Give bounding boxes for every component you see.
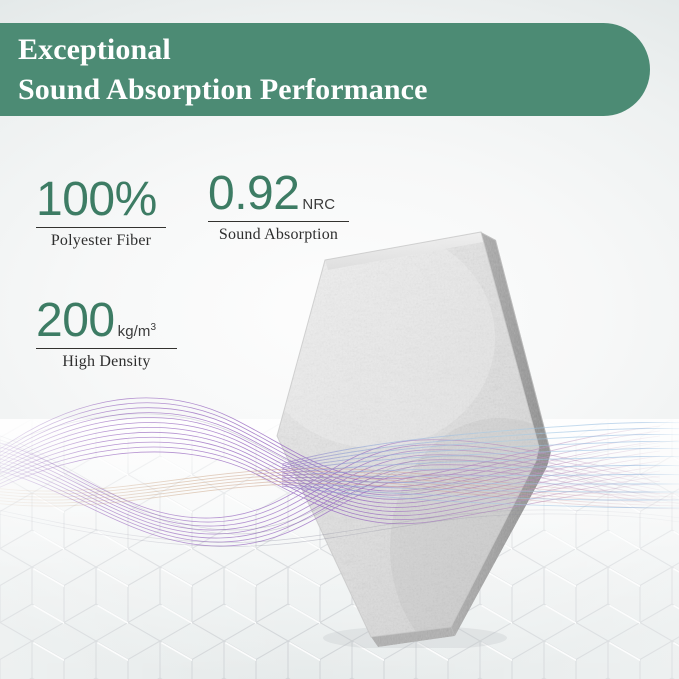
stat-unit-exponent: 3	[151, 322, 157, 333]
stat-value-row: 200 kg/m3	[36, 297, 177, 344]
stat-label: Polyester Fiber	[36, 232, 166, 250]
stat-divider	[36, 348, 177, 349]
stat-value-row: 100%	[36, 176, 166, 223]
stat-value: 100%	[36, 176, 157, 223]
stat-label: High Density	[36, 353, 177, 371]
stat-divider	[36, 227, 166, 228]
stat-unit: kg/m3	[118, 323, 157, 340]
stat-sound-absorption: 0.92 NRC Sound Absorption	[208, 170, 349, 244]
stat-value: 0.92	[208, 170, 299, 217]
stat-label: Sound Absorption	[208, 226, 349, 244]
infographic-page: Exceptional Sound Absorption Performance	[0, 0, 679, 679]
stat-value-row: 0.92 NRC	[208, 170, 349, 217]
stat-value: 200	[36, 297, 115, 344]
stat-high-density: 200 kg/m3 High Density	[36, 297, 177, 371]
stat-polyester-fiber: 100% Polyester Fiber	[36, 176, 166, 250]
stat-unit-text: kg/m	[118, 323, 151, 340]
header-line-1: Exceptional	[18, 30, 650, 70]
header-line-2: Sound Absorption Performance	[18, 70, 650, 110]
panel-front-face	[255, 218, 565, 648]
stat-unit: NRC	[302, 196, 335, 213]
header-banner: Exceptional Sound Absorption Performance	[0, 23, 650, 116]
acoustic-panel-image	[255, 218, 565, 648]
stat-divider	[208, 221, 349, 222]
